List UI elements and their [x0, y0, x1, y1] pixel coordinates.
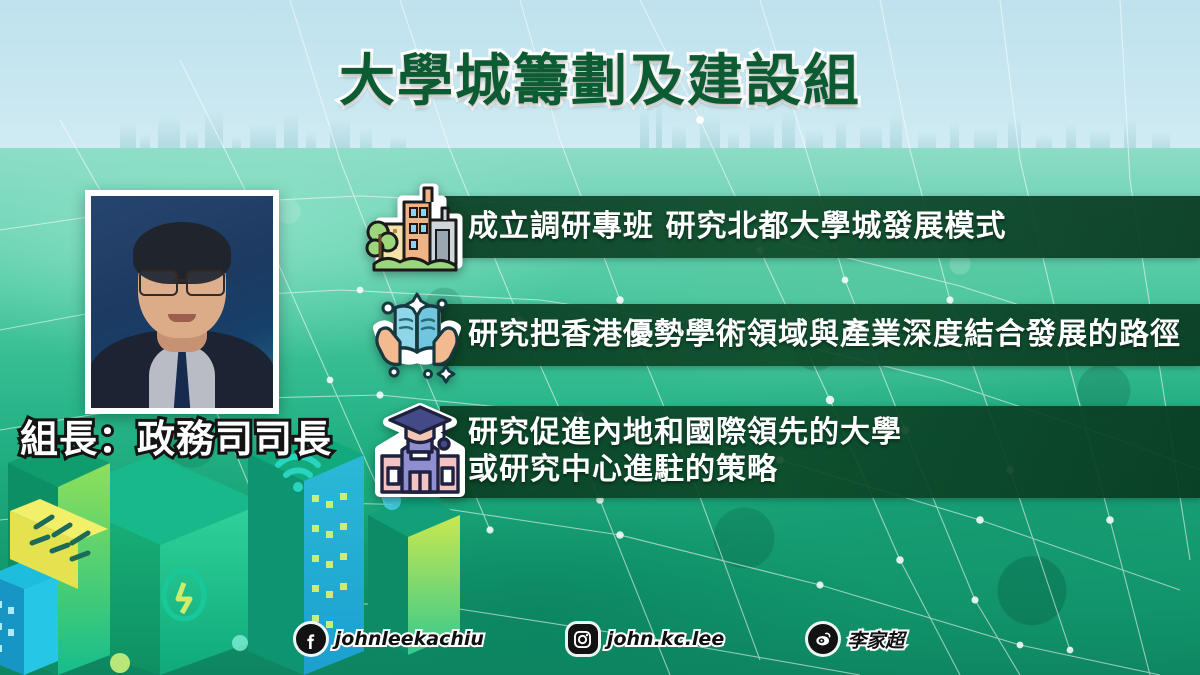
- bullet-bar-3: 研究促進內地和國際領先的大學 或研究中心進駐的策略: [440, 406, 1200, 498]
- slide-canvas: 大學城籌劃及建設組 組長：政務司司長 成立調研專班 研究北都大學城發展模式: [0, 0, 1200, 675]
- portrait-mouth: [168, 314, 196, 322]
- official-portrait: [85, 190, 279, 414]
- weibo-icon[interactable]: [808, 624, 838, 654]
- school-graduation-cap-icon: [366, 394, 474, 502]
- city-buildings-icon: [362, 176, 468, 282]
- bullet-text-2: 研究把香港優勢學術領域與產業深度結合發展的路徑: [440, 317, 1181, 354]
- bullet-text-3: 研究促進內地和國際領先的大學 或研究中心進駐的策略: [440, 415, 902, 488]
- portrait-caption: 組長：政務司司長: [20, 408, 332, 463]
- bullet-text-1: 成立調研專班 研究北都大學城發展模式: [440, 209, 1006, 246]
- facebook-handle: johnleekachiu: [335, 628, 484, 650]
- social-handles-bar: johnleekachiu john.kc.lee: [0, 619, 1200, 659]
- bullet-bar-1: 成立調研專班 研究北都大學城發展模式: [440, 196, 1200, 258]
- instagram-handle: john.kc.lee: [607, 628, 724, 650]
- portrait-image: [91, 196, 273, 408]
- facebook-icon[interactable]: [296, 624, 326, 654]
- instagram-icon[interactable]: [568, 624, 598, 654]
- social-weibo[interactable]: 李家超: [808, 624, 904, 654]
- social-instagram[interactable]: john.kc.lee: [568, 624, 724, 654]
- social-facebook[interactable]: johnleekachiu: [296, 624, 484, 654]
- slide-title: 大學城籌劃及建設組: [0, 36, 1200, 117]
- portrait-glasses: [139, 270, 225, 292]
- hands-holding-book-icon: [366, 284, 468, 386]
- weibo-handle: 李家超: [847, 626, 904, 653]
- bullet-bar-2: 研究把香港優勢學術領域與產業深度結合發展的路徑: [440, 304, 1200, 366]
